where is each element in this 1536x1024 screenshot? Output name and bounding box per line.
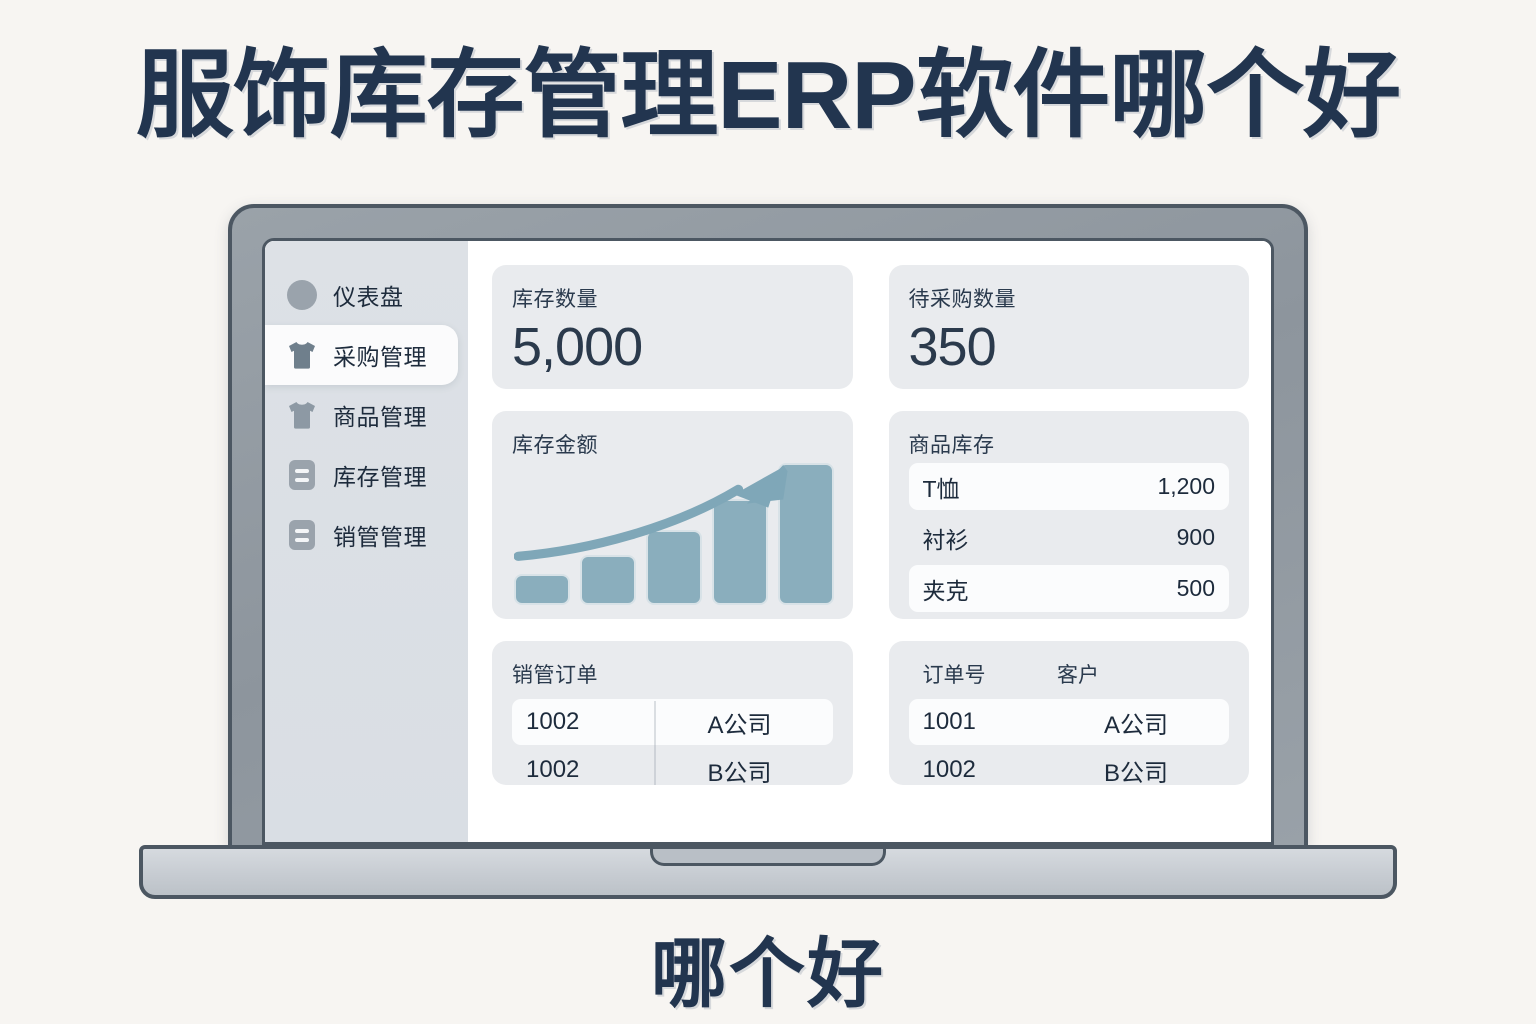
card-title: 库存金额 bbox=[512, 429, 833, 459]
table-row[interactable]: 1002 B公司 bbox=[512, 747, 833, 785]
chart-bar bbox=[646, 530, 702, 605]
column-header-customer: 客户 bbox=[1057, 659, 1215, 689]
dashboard-dot-icon bbox=[285, 280, 319, 310]
sidebar-item-products[interactable]: 商品管理 bbox=[265, 385, 458, 445]
table-row[interactable]: 1002 B公司 bbox=[909, 747, 1230, 785]
product-name: T恤 bbox=[923, 470, 960, 504]
sidebar-item-label: 采购管理 bbox=[333, 338, 427, 372]
table-row[interactable]: 1002 A公司 bbox=[512, 699, 833, 745]
page-caption: 哪个好 bbox=[0, 912, 1536, 1022]
sidebar-item-label: 商品管理 bbox=[333, 398, 427, 432]
product-qty: 900 bbox=[1177, 524, 1215, 551]
chart-bar bbox=[712, 499, 768, 606]
sidebar-item-label: 销管管理 bbox=[333, 518, 427, 552]
customer-name: A公司 bbox=[1057, 705, 1215, 740]
card-title: 待采购数量 bbox=[909, 283, 1230, 313]
table-header: 订单号 客户 bbox=[909, 659, 1230, 697]
shirt-icon bbox=[285, 400, 319, 430]
product-name: 夹克 bbox=[923, 572, 969, 606]
table-card-sales-orders: 销管订单 1002 A公司 1002 B公司 bbox=[492, 641, 853, 785]
list-icon bbox=[285, 460, 319, 490]
customer-name: A公司 bbox=[661, 705, 819, 740]
laptop-base bbox=[139, 845, 1397, 899]
chart-bars bbox=[514, 463, 835, 605]
order-id: 1002 bbox=[923, 756, 1058, 784]
stat-card-stock-qty: 库存数量 5,000 bbox=[492, 265, 853, 389]
bar-chart bbox=[514, 463, 835, 605]
chart-bar bbox=[778, 463, 834, 605]
order-id: 1001 bbox=[923, 708, 1058, 736]
column-header-order-id: 订单号 bbox=[923, 659, 1058, 689]
sidebar-item-inventory[interactable]: 库存管理 bbox=[265, 445, 458, 505]
order-id: 1002 bbox=[526, 756, 661, 784]
sidebar-item-dashboard[interactable]: 仪表盘 bbox=[265, 265, 458, 325]
card-title: 库存数量 bbox=[512, 283, 833, 313]
product-name: 衬衫 bbox=[923, 521, 969, 555]
shirt-icon bbox=[285, 340, 319, 370]
chart-bar bbox=[514, 574, 570, 605]
customer-name: B公司 bbox=[1057, 753, 1215, 786]
card-title: 商品库存 bbox=[909, 429, 1230, 459]
table-card-orders: 订单号 客户 1001 A公司 1002 B公司 bbox=[889, 641, 1250, 785]
stat-value: 5,000 bbox=[512, 319, 833, 376]
sidebar-item-sales[interactable]: 销管管理 bbox=[265, 505, 458, 565]
product-qty: 1,200 bbox=[1157, 473, 1215, 500]
card-title: 销管订单 bbox=[512, 659, 833, 689]
customer-name: B公司 bbox=[661, 753, 819, 786]
dashboard-content: 库存数量 5,000 待采购数量 350 库存金额 bbox=[468, 241, 1271, 842]
list-icon bbox=[285, 520, 319, 550]
stat-card-pending-purchase-qty: 待采购数量 350 bbox=[889, 265, 1250, 389]
list-item[interactable]: T恤 1,200 bbox=[909, 463, 1230, 510]
page-title: 服饰库存管理ERP软件哪个好 bbox=[0, 42, 1536, 150]
erp-app: 仪表盘 采购管理 bbox=[265, 241, 1271, 842]
sidebar: 仪表盘 采购管理 bbox=[265, 241, 468, 842]
list-card-product-inventory: 商品库存 T恤 1,200 衬衫 900 夹克 500 bbox=[889, 411, 1250, 619]
list-item[interactable]: 衬衫 900 bbox=[909, 514, 1230, 561]
sidebar-item-label: 仪表盘 bbox=[333, 278, 404, 312]
laptop-screen: 仪表盘 采购管理 bbox=[262, 238, 1274, 845]
order-id: 1002 bbox=[526, 708, 661, 736]
sidebar-item-purchasing[interactable]: 采购管理 bbox=[265, 325, 458, 385]
table-row[interactable]: 1001 A公司 bbox=[909, 699, 1230, 745]
chart-bar bbox=[580, 555, 636, 605]
stat-value: 350 bbox=[909, 319, 1230, 376]
chart-card-inventory-value: 库存金额 bbox=[492, 411, 853, 619]
laptop-base-notch bbox=[650, 849, 886, 866]
list-item[interactable]: 夹克 500 bbox=[909, 565, 1230, 612]
product-qty: 500 bbox=[1177, 575, 1215, 602]
laptop-lid: 仪表盘 采购管理 bbox=[228, 204, 1308, 849]
laptop-mockup: 仪表盘 采购管理 bbox=[139, 204, 1397, 904]
column-divider bbox=[654, 701, 656, 785]
sidebar-item-label: 库存管理 bbox=[333, 458, 427, 492]
